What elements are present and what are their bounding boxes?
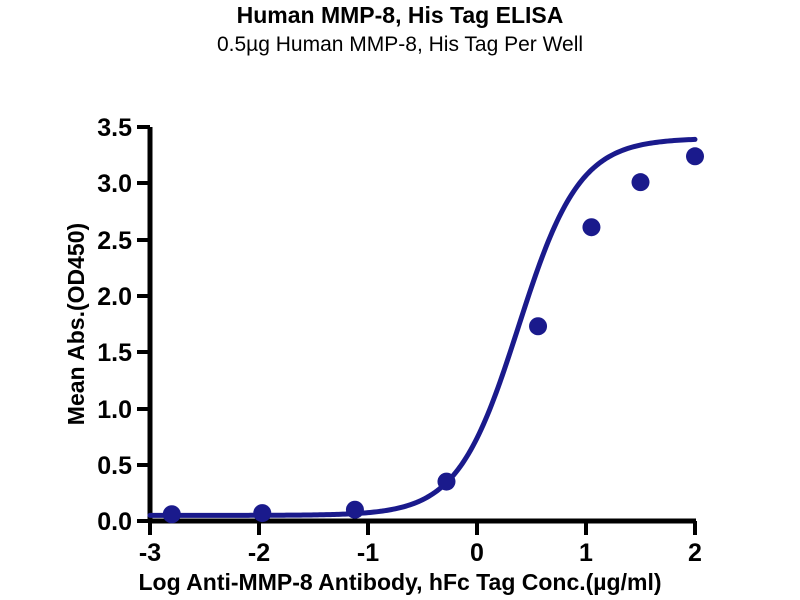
y-tick-label: 3.0 <box>97 170 132 198</box>
data-point <box>437 473 455 491</box>
y-axis-title: Mean Abs.(OD450) <box>63 223 89 425</box>
data-point <box>346 501 364 519</box>
y-tick-label: 0.5 <box>97 452 132 480</box>
y-tick-label: 2.5 <box>97 227 132 255</box>
y-tick-label: 2.0 <box>97 283 132 311</box>
x-axis-tick-labels: -3 -2 -1 0 1 2 <box>139 539 702 567</box>
x-tick-label: 2 <box>688 539 702 567</box>
chart-page: Human MMP-8, His Tag ELISA 0.5µg Human M… <box>0 0 800 600</box>
x-tick-label: -3 <box>139 539 161 567</box>
y-tick-label: 0.0 <box>97 508 132 536</box>
x-tick-label: 1 <box>579 539 593 567</box>
data-point <box>632 173 650 191</box>
data-point <box>163 505 181 523</box>
y-tick-label: 1.0 <box>97 396 132 424</box>
x-tick-label: -1 <box>357 539 379 567</box>
y-axis-tick-labels: 3.5 3.0 2.5 2.0 1.5 1.0 0.5 0.0 <box>97 114 132 536</box>
elisa-curve-plot: 3.5 3.0 2.5 2.0 1.5 1.0 0.5 0.0 -3 -2 -1… <box>0 0 800 600</box>
y-tick-label: 1.5 <box>97 339 132 367</box>
data-point <box>686 147 704 165</box>
y-tick-label: 3.5 <box>97 114 132 142</box>
data-point-markers <box>163 147 704 523</box>
data-point <box>529 317 547 335</box>
data-point <box>582 218 600 236</box>
sigmoid-fit-curve <box>150 139 695 515</box>
axis-spines <box>148 127 696 521</box>
x-axis-title: Log Anti-MMP-8 Antibody, hFc Tag Conc.(µ… <box>138 569 661 595</box>
x-tick-label: -2 <box>248 539 270 567</box>
x-tick-label: 0 <box>470 539 484 567</box>
data-point <box>253 504 271 522</box>
